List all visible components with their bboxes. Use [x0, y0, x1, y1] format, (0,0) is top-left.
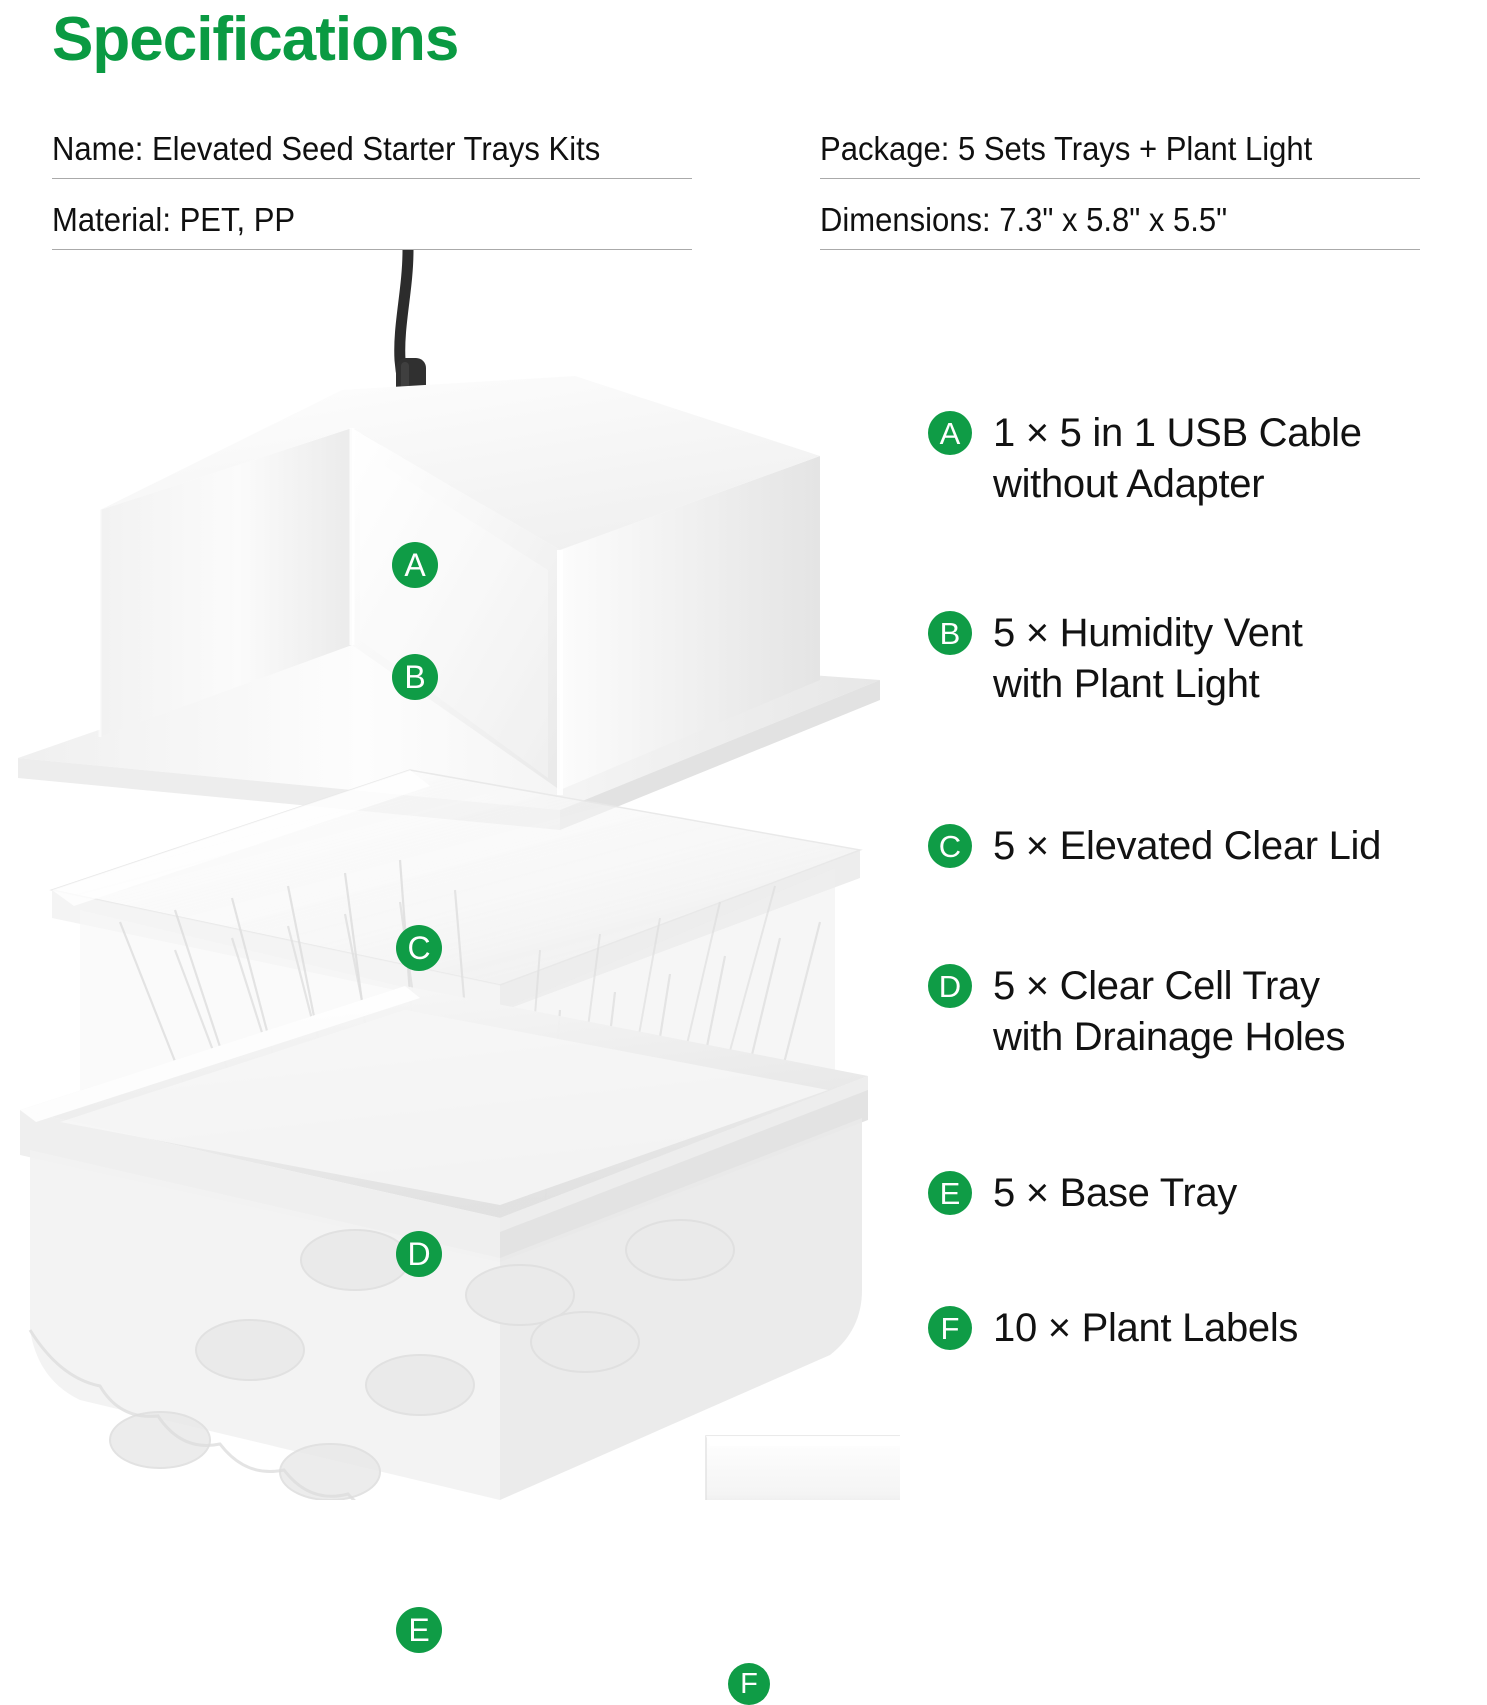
badge-c-icon: C [928, 824, 972, 868]
legend-item-f: F 10 × Plant Labels [928, 1303, 1298, 1354]
callout-badge-e: E [396, 1607, 442, 1653]
badge-b-icon: B [392, 654, 438, 700]
legend-item-f-text: 10 × Plant Labels [993, 1303, 1298, 1354]
legend-item-b-text: 5 × Humidity Vent with Plant Light [993, 608, 1303, 710]
legend-item-d: D 5 × Clear Cell Tray with Drainage Hole… [928, 961, 1345, 1063]
legend-item-b: B 5 × Humidity Vent with Plant Light [928, 608, 1303, 710]
badge-c-icon: C [396, 925, 442, 971]
badge-e-icon: E [396, 1607, 442, 1653]
spec-row-name: Name: Elevated Seed Starter Trays Kits [52, 130, 692, 179]
plant-label-illustration [706, 1436, 900, 1500]
callout-badge-c: C [396, 925, 442, 971]
legend-a-line2: without Adapter [993, 459, 1362, 510]
specifications-page: Specifications Name: Elevated Seed Start… [0, 0, 1487, 1500]
legend-item-e-text: 5 × Base Tray [993, 1168, 1237, 1219]
page-title: Specifications [52, 4, 458, 75]
badge-e-icon: E [928, 1171, 972, 1215]
badge-f-icon: F [728, 1663, 770, 1705]
legend-item-c: C 5 × Elevated Clear Lid [928, 821, 1381, 872]
legend-d-line2: with Drainage Holes [993, 1012, 1345, 1063]
spec-package-text: Package: 5 Sets Trays + Plant Light [820, 130, 1384, 168]
legend-b-line2: with Plant Light [993, 659, 1303, 710]
legend-item-a: A 1 × 5 in 1 USB Cable without Adapter [928, 408, 1362, 510]
callout-badge-b: B [392, 654, 438, 700]
spec-name-text: Name: Elevated Seed Starter Trays Kits [52, 130, 654, 168]
spec-material-text: Material: PET, PP [52, 201, 654, 239]
spec-column-right: Package: 5 Sets Trays + Plant Light Dime… [820, 130, 1420, 272]
legend-b-line1: 5 × Humidity Vent [993, 611, 1303, 655]
badge-f-icon: F [928, 1306, 972, 1350]
spec-dimensions-text: Dimensions: 7.3" x 5.8" x 5.5" [820, 201, 1384, 239]
legend-f-line1: 10 × Plant Labels [993, 1306, 1298, 1350]
legend-a-line1: 1 × 5 in 1 USB Cable [993, 411, 1362, 455]
callout-badge-f: F [728, 1663, 770, 1705]
callout-badge-a: A [392, 542, 438, 588]
clear-lid-illustration [18, 376, 880, 830]
legend-item-d-text: 5 × Clear Cell Tray with Drainage Holes [993, 961, 1345, 1063]
legend-c-line1: 5 × Elevated Clear Lid [993, 824, 1381, 868]
legend-item-c-text: 5 × Elevated Clear Lid [993, 821, 1381, 872]
product-exploded-view: A B C D E F [0, 250, 900, 1500]
spec-row-material: Material: PET, PP [52, 201, 692, 250]
legend-item-e: E 5 × Base Tray [928, 1168, 1237, 1219]
badge-b-icon: B [928, 611, 972, 655]
callout-badge-d: D [396, 1231, 442, 1277]
badge-d-icon: D [396, 1231, 442, 1277]
badge-d-icon: D [928, 964, 972, 1008]
legend-item-a-text: 1 × 5 in 1 USB Cable without Adapter [993, 408, 1362, 510]
legend-e-line1: 5 × Base Tray [993, 1171, 1237, 1215]
badge-a-icon: A [928, 411, 972, 455]
badge-a-icon: A [392, 542, 438, 588]
spec-row-dimensions: Dimensions: 7.3" x 5.8" x 5.5" [820, 201, 1420, 250]
spec-row-package: Package: 5 Sets Trays + Plant Light [820, 130, 1420, 179]
legend-d-line1: 5 × Clear Cell Tray [993, 964, 1320, 1008]
